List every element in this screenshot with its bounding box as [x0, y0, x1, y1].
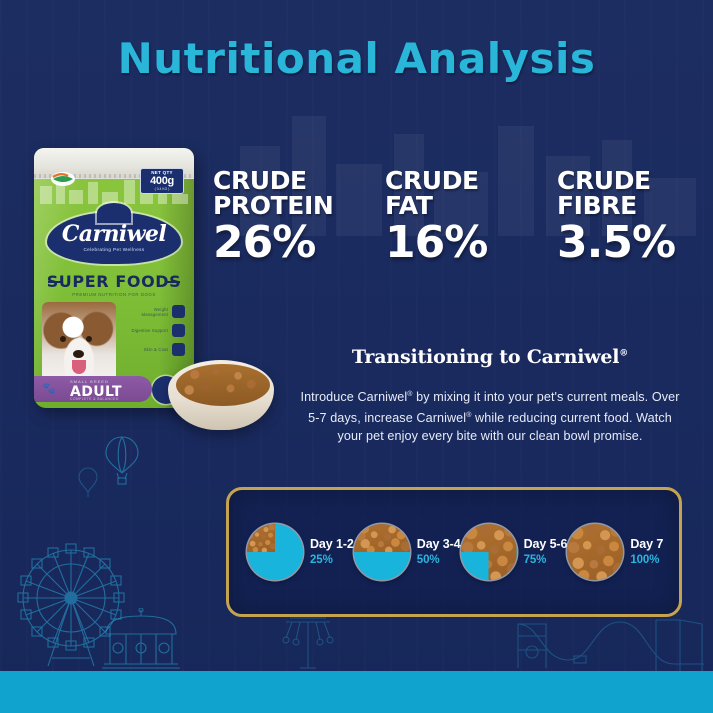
net-quantity-value: 400g: [142, 176, 182, 187]
nutrition-stat-fat: CRUDE FAT 16%: [385, 168, 525, 266]
package-claim-item: Digestive Support: [127, 324, 185, 337]
transition-description: Introduce Carniwel® by mixing it into yo…: [300, 386, 680, 446]
registered-trademark-icon: ®: [619, 349, 628, 359]
nutrition-stat-label-line1: CRUDE: [213, 168, 353, 193]
net-quantity-badge: NET QTY 400g ( 0.4 KG ): [140, 168, 184, 194]
pie-kibble-slice: [567, 524, 623, 580]
package-claim-label: Weight Management: [127, 307, 168, 317]
nutrition-stat-label-line2: PROTEIN: [213, 193, 353, 218]
dog-nose: [73, 350, 84, 358]
page-title: Nutritional Analysis: [0, 34, 713, 83]
nutrition-stats: CRUDE PROTEIN 26% CRUDE FAT 16% CRUDE FI…: [213, 168, 698, 266]
transition-day-percent: 100%: [630, 553, 663, 567]
life-stage-sub: COMPLETE & BALANCED: [70, 397, 119, 401]
nutrition-stat-value: 16%: [385, 220, 525, 266]
dog-eye-left: [60, 336, 66, 342]
ferris-wheel-icon: [12, 540, 130, 670]
brand-tagline: Celebrating Pet Wellness: [47, 247, 181, 252]
transition-day-name: Day 3-4: [417, 537, 461, 553]
transition-schedule-panel: Day 1-2 25% Day 3-4 50% Day 5-6: [226, 487, 682, 617]
dog-tongue: [72, 360, 86, 374]
nutritional-analysis-poster: Nutritional Analysis CRUDE PROTEIN 26% C…: [0, 0, 713, 713]
swing-ride-icon: [280, 612, 336, 674]
transition-heading-text: Transitioning to Carniwel: [352, 346, 619, 368]
bottom-accent-band: [0, 671, 713, 713]
bowl-kibble-fill: [176, 364, 270, 406]
transition-pie-chart-day-5-6: [461, 524, 517, 580]
nutrition-stat-protein: CRUDE PROTEIN 26%: [213, 168, 353, 266]
dog-photo: [42, 302, 116, 386]
transition-day-label: Day 1-2 25%: [310, 537, 354, 567]
nutrition-stat-label-line1: CRUDE: [385, 168, 525, 193]
small-balloon-icon: [78, 466, 98, 498]
transition-day-item: Day 1-2 25%: [247, 524, 354, 580]
transition-body-part1: Introduce Carniwel: [300, 390, 407, 404]
transition-day-name: Day 7: [630, 537, 663, 553]
transition-day-item: Day 5-6 75%: [461, 524, 568, 580]
transition-day-name: Day 1-2: [310, 537, 354, 553]
transition-day-label: Day 3-4 50%: [417, 537, 461, 567]
brand-name: Carniwel: [47, 221, 181, 247]
life-stage-banner: 🐾 SMALL BREED ADULT COMPLETE & BALANCED: [34, 376, 152, 402]
transition-day-percent: 50%: [417, 553, 461, 567]
transition-pie-chart-day-3-4: [354, 524, 410, 580]
pie-kibble-slice: [354, 524, 410, 552]
paw-icon: 🐾: [42, 382, 56, 395]
nutrition-stat-value: 26%: [213, 220, 353, 266]
nutrition-stat-fibre: CRUDE FIBRE 3.5%: [557, 168, 697, 266]
pie-kibble-slice: [247, 524, 275, 552]
package-range-name: SUPER FOODS: [34, 272, 194, 291]
nutrition-stat-label-line2: FAT: [385, 193, 525, 218]
transition-day-percent: 75%: [524, 553, 568, 567]
nutrition-stat-label-line2: FIBRE: [557, 193, 697, 218]
transition-day-label: Day 5-6 75%: [524, 537, 568, 567]
quality-seal-icon: [50, 170, 76, 188]
transition-heading: Transitioning to Carniwel®: [290, 346, 690, 368]
transition-day-name: Day 5-6: [524, 537, 568, 553]
dog-eye-right: [86, 336, 92, 342]
bowl-body: [168, 360, 274, 430]
nutrition-stat-value: 3.5%: [557, 220, 697, 266]
brand-logo: Carniwel Celebrating Pet Wellness: [47, 212, 181, 264]
kibble-bowl-image: [166, 352, 276, 432]
transition-pie-chart-day-7: [567, 524, 623, 580]
pie-kibble-slice: [461, 524, 517, 580]
transition-day-item: Day 7 100%: [567, 524, 663, 580]
weight-management-icon: [172, 305, 185, 318]
transition-day-list: Day 1-2 25% Day 3-4 50% Day 5-6: [229, 490, 679, 614]
roller-coaster-icon: [516, 614, 706, 676]
digestive-support-icon: [172, 324, 185, 337]
carousel-icon: [96, 608, 186, 672]
brand-logo-mark-icon: [97, 203, 131, 223]
net-quantity-sub: ( 0.4 KG ): [142, 188, 182, 191]
package-claim-item: Weight Management: [127, 305, 185, 318]
transition-pie-chart-day-1-2: [247, 524, 303, 580]
nutrition-stat-label-line1: CRUDE: [557, 168, 697, 193]
package-range-subtitle: PREMIUM NUTRITION FOR DOGS: [34, 292, 194, 297]
hot-air-balloon-icon: [104, 435, 140, 487]
package-claim-label: Skin & Coat: [144, 347, 168, 352]
transition-day-label: Day 7 100%: [630, 537, 663, 567]
package-claim-label: Digestive Support: [132, 328, 168, 333]
transition-day-item: Day 3-4 50%: [354, 524, 461, 580]
transition-day-percent: 25%: [310, 553, 354, 567]
